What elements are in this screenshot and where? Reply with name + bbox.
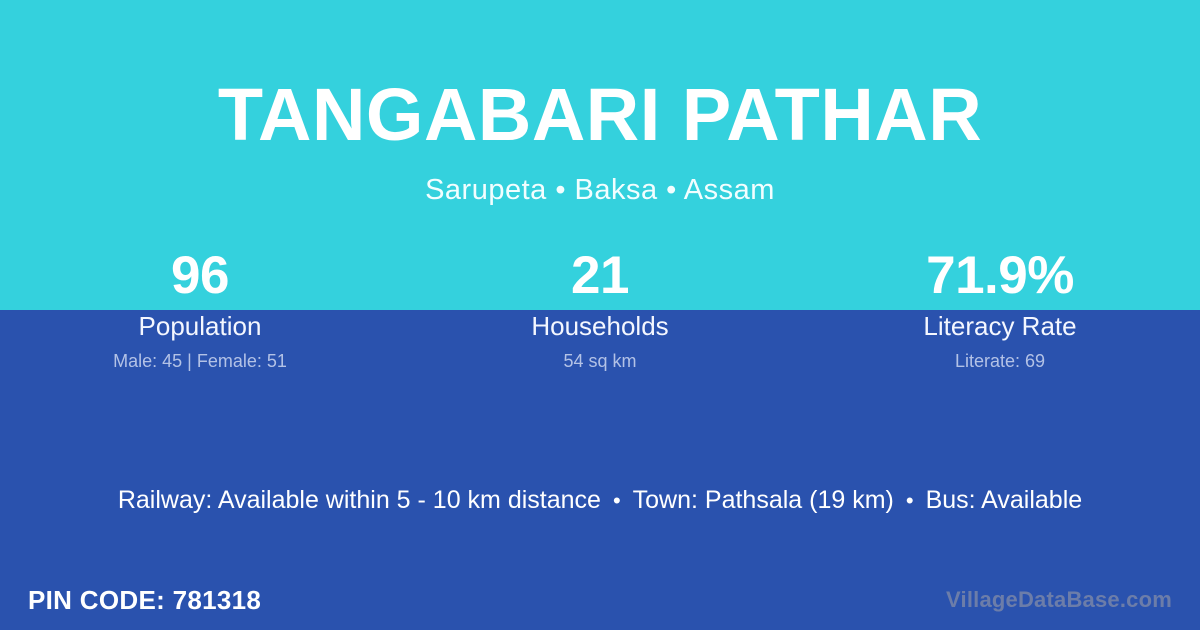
- card-footer: PIN CODE: 781318 VillageDataBase.com: [0, 570, 1200, 630]
- stat-literacy-rate: 71.9% Literacy Rate Literate: 69: [800, 248, 1200, 372]
- stat-value: 96: [171, 248, 229, 304]
- stat-value: 71.9%: [926, 248, 1074, 304]
- card-header: TANGABARI PATHAR Sarupeta • Baksa • Assa…: [0, 0, 1200, 240]
- stat-population: 96 Population Male: 45 | Female: 51: [0, 248, 400, 372]
- stat-households: 21 Households 54 sq km: [400, 248, 800, 372]
- stat-label: Households: [531, 312, 668, 341]
- infra-railway: Railway: Available within 5 - 10 km dist…: [118, 486, 601, 515]
- bullet-separator-icon: •: [601, 488, 633, 514]
- stats-row: 96 Population Male: 45 | Female: 51 21 H…: [0, 248, 1200, 372]
- village-info-card: TANGABARI PATHAR Sarupeta • Baksa • Assa…: [0, 0, 1200, 630]
- infra-bus: Bus: Available: [926, 486, 1083, 515]
- stat-sublabel: Literate: 69: [955, 352, 1045, 372]
- stat-sublabel: 54 sq km: [563, 352, 636, 372]
- page-title: TANGABARI PATHAR: [218, 78, 982, 152]
- breadcrumb: Sarupeta • Baksa • Assam: [425, 174, 775, 207]
- infra-town: Town: Pathsala (19 km): [633, 486, 894, 515]
- stat-label: Literacy Rate: [923, 312, 1076, 341]
- pin-code: PIN CODE: 781318: [28, 585, 261, 616]
- bullet-separator-icon: •: [894, 488, 926, 514]
- infrastructure-row: Railway: Available within 5 - 10 km dist…: [0, 486, 1200, 515]
- stat-value: 21: [571, 248, 629, 304]
- brand-watermark: VillageDataBase.com: [946, 587, 1172, 613]
- stat-label: Population: [139, 312, 262, 341]
- stat-sublabel: Male: 45 | Female: 51: [113, 352, 287, 372]
